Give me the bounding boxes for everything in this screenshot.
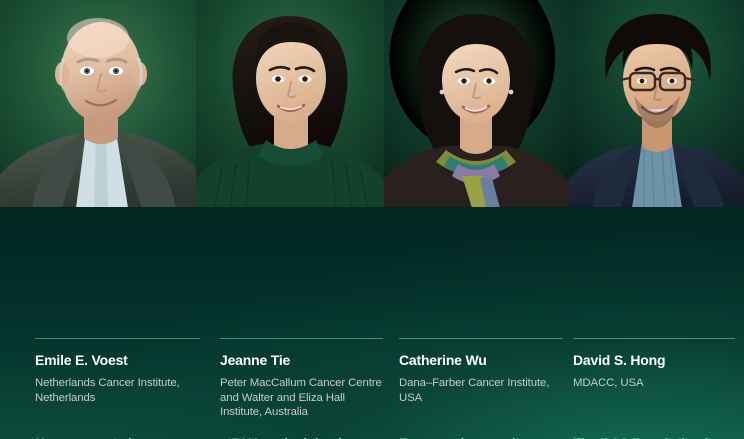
divider-1 [35,338,200,339]
speaker-photo-strip [0,0,744,208]
portrait-jeanne-tie-icon [196,0,384,208]
divider-3 [399,338,563,339]
portrait-emile-voest-icon [0,0,196,208]
talk-title-1: New concepts in cancer biology: From the… [35,435,200,439]
talk-title-2: ctDNA and minimal residual disease in co… [220,435,378,439]
speaker-affiliation-4: MDACC, USA [573,376,733,391]
talk-title-4: The RAS Revolution is here! [573,435,723,439]
speaker-affiliation-3: Dana–Farber Cancer Institute, USA [399,376,565,405]
speaker-name-3: Catherine Wu [399,352,487,368]
speaker-name-2: Jeanne Tie [220,352,290,368]
portrait-david-hong-icon [568,0,744,208]
speaker-photo-4 [568,0,744,208]
speaker-name-1: Emile E. Voest [35,352,128,368]
speaker-photo-2 [196,0,384,208]
speaker-photo-3 [384,0,568,208]
speaker-affiliation-1: Netherlands Cancer Institute, Netherland… [35,376,203,405]
divider-4 [573,338,735,339]
speaker-highlight-page: New concepts in cancer biology: From the… [0,0,744,439]
speaker-photo-1 [0,0,196,208]
portrait-catherine-wu-icon [384,0,568,208]
speaker-name-4: David S. Hong [573,352,665,368]
divider-2 [220,338,383,339]
speaker-affiliation-2: Peter MacCallum Cancer Centre and Walter… [220,376,386,420]
talk-title-3: Encouraging results and updates on perso… [399,435,554,439]
